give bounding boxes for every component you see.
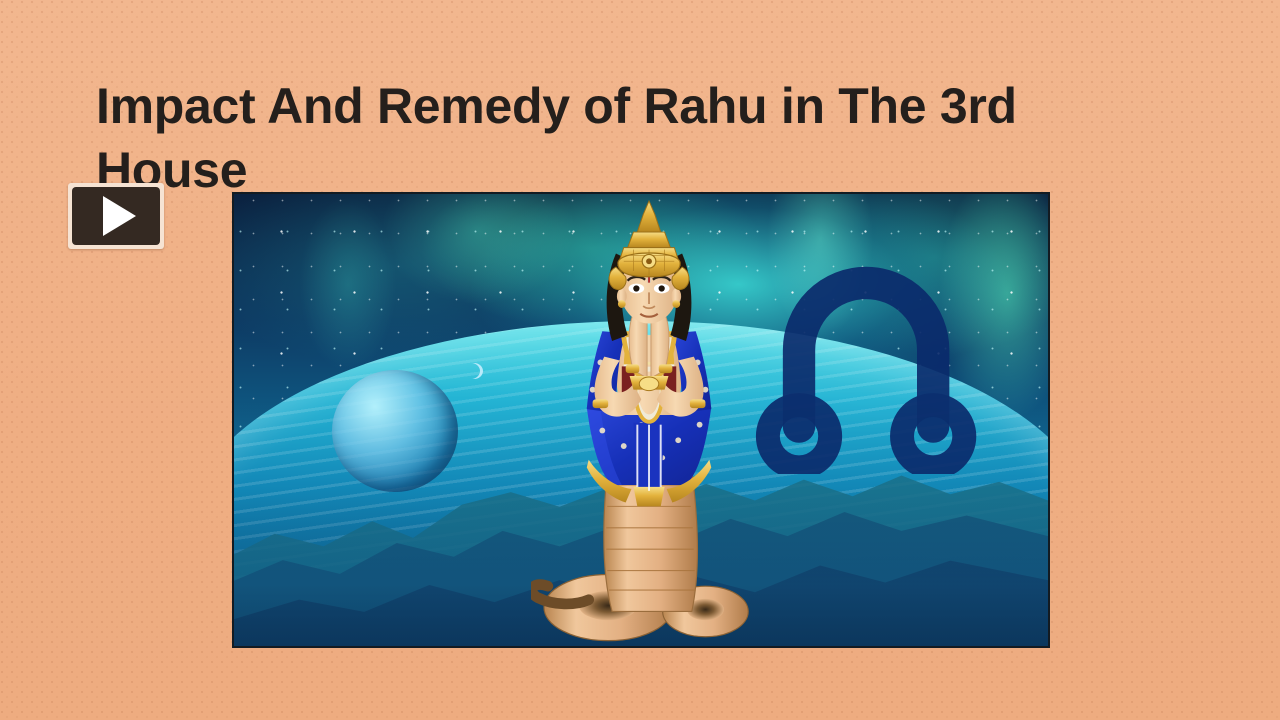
play-media-button[interactable] bbox=[68, 183, 164, 249]
slide-canvas: Impact And Remedy of Rahu in The 3rd Hou… bbox=[0, 0, 1280, 720]
rahu-deity-figure bbox=[531, 199, 767, 646]
slide-image[interactable] bbox=[232, 192, 1050, 648]
rahu-north-node-icon bbox=[744, 235, 988, 475]
play-icon bbox=[103, 196, 136, 236]
page-title: Impact And Remedy of Rahu in The 3rd Hou… bbox=[96, 74, 1096, 202]
small-moon bbox=[332, 370, 458, 492]
play-button-screen bbox=[72, 187, 160, 245]
